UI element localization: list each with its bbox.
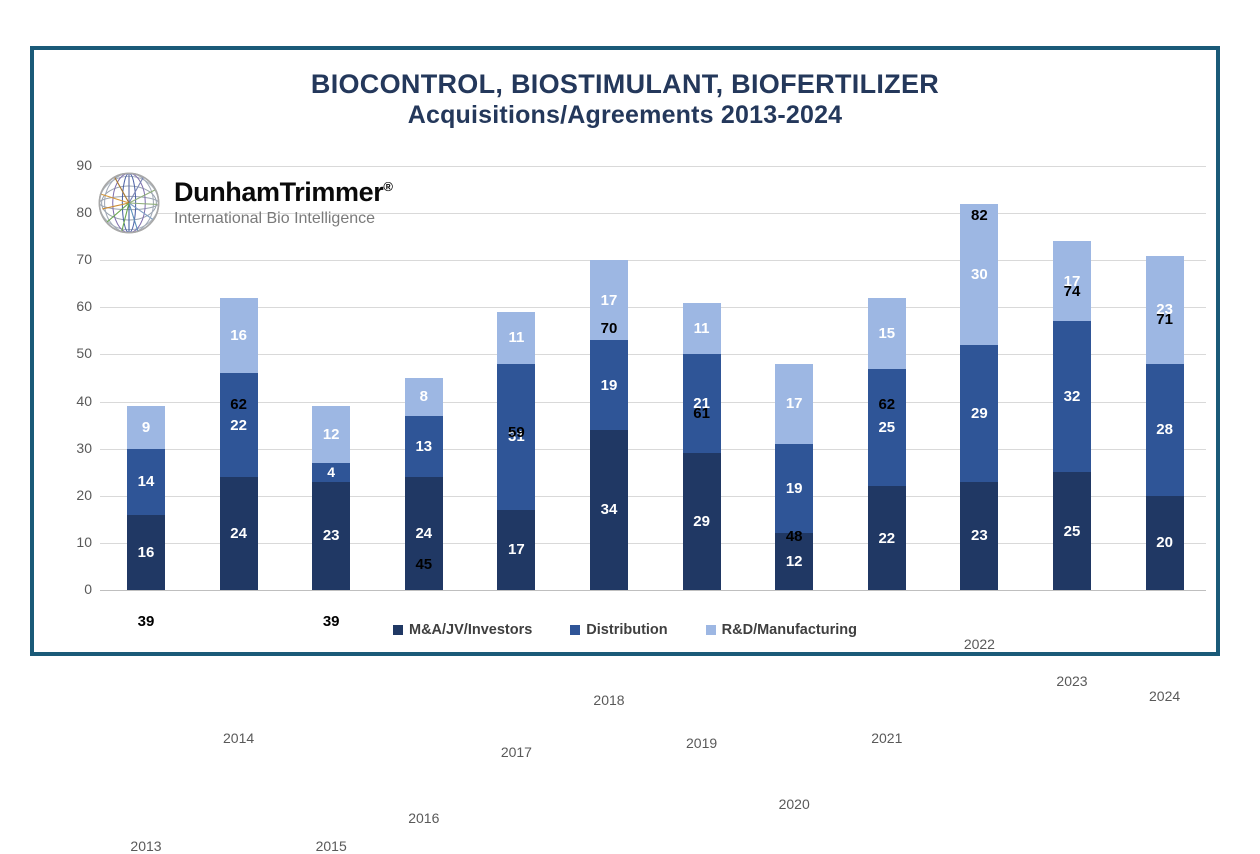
y-axis-tick-label: 90	[56, 157, 92, 173]
bar-segment[interactable]: 23	[312, 482, 350, 590]
x-axis-tick-label: 2016	[384, 810, 464, 826]
legend-item[interactable]: M&A/JV/Investors	[393, 622, 532, 638]
bar-total-label: 82	[944, 207, 1014, 224]
bar-segment[interactable]: 29	[960, 345, 998, 482]
y-axis-tick-label: 80	[56, 204, 92, 220]
logo-company-name-text: DunhamTrimmer	[174, 177, 383, 207]
gridline	[100, 260, 1206, 261]
bar-total-label: 48	[759, 528, 829, 545]
bar-total-label: 61	[667, 405, 737, 422]
x-axis-tick-label: 2023	[1032, 673, 1112, 689]
y-axis-tick-label: 70	[56, 251, 92, 267]
logo-tagline: International Bio Intelligence	[174, 211, 393, 227]
bar-segment-value: 22	[878, 531, 895, 546]
x-axis-tick-label: 2018	[569, 692, 649, 708]
bar-segment-value: 9	[142, 420, 150, 435]
x-axis-tick-label: 2021	[847, 730, 927, 746]
x-axis-tick-label: 2024	[1125, 688, 1205, 704]
bar-segment[interactable]: 12	[312, 406, 350, 463]
y-axis-tick-label: 10	[56, 534, 92, 550]
x-axis-tick-label: 2022	[939, 636, 1019, 652]
bar-segment[interactable]: 23	[1146, 256, 1184, 364]
bar-column[interactable]: 113117592017	[497, 312, 535, 590]
legend-swatch-icon	[393, 625, 403, 635]
bar-segment-value: 32	[1064, 389, 1081, 404]
bar-segment[interactable]: 24	[405, 477, 443, 590]
bar-segment-value: 23	[971, 528, 988, 543]
gridline	[100, 449, 1206, 450]
bar-segment[interactable]: 25	[868, 369, 906, 487]
x-axis-tick-label: 2020	[754, 796, 834, 812]
bar-segment-value: 23	[323, 528, 340, 543]
logo-company-name: DunhamTrimmer®	[174, 179, 393, 206]
bar-segment-value: 16	[230, 328, 247, 343]
bar-segment-value: 25	[878, 420, 895, 435]
bar-segment[interactable]: 19	[775, 444, 813, 534]
bar-segment[interactable]: 32	[1053, 321, 1091, 472]
legend-item[interactable]: R&D/Manufacturing	[706, 622, 857, 638]
bar-segment-value: 12	[786, 554, 803, 569]
bar-segment-value: 16	[138, 545, 155, 560]
globe-wireframe-icon	[92, 166, 166, 240]
y-axis-tick-label: 50	[56, 345, 92, 361]
bar-segment[interactable]: 25	[1053, 472, 1091, 590]
gridline	[100, 590, 1206, 591]
bar-column[interactable]: 173225742023	[1053, 241, 1091, 590]
chart-legend: M&A/JV/InvestorsDistributionR&D/Manufact…	[34, 622, 1216, 638]
bar-segment-value: 34	[601, 502, 618, 517]
y-axis-tick-label: 20	[56, 487, 92, 503]
y-axis-tick-label: 0	[56, 581, 92, 597]
bar-segment-value: 20	[1156, 535, 1173, 550]
bar-segment[interactable]: 19	[590, 340, 628, 430]
bar-segment[interactable]: 11	[497, 312, 535, 364]
registered-mark: ®	[383, 179, 392, 194]
x-axis-tick-label: 2015	[291, 838, 371, 854]
legend-item-label: Distribution	[586, 622, 667, 638]
bar-segment[interactable]: 15	[868, 298, 906, 369]
bar-segment[interactable]: 28	[1146, 364, 1184, 496]
y-axis-tick-label: 30	[56, 440, 92, 456]
bar-total-label: 45	[389, 556, 459, 573]
x-axis-tick-label: 2013	[106, 838, 186, 854]
bar-total-label: 74	[1037, 283, 1107, 300]
logo: DunhamTrimmer® International Bio Intelli…	[92, 166, 393, 240]
bar-column[interactable]: 91416392013	[127, 406, 165, 590]
bar-column[interactable]: 171934702018	[590, 260, 628, 590]
bar-segment-value: 13	[415, 439, 432, 454]
bar-column[interactable]: 171912482020	[775, 364, 813, 590]
bar-total-label: 70	[574, 320, 644, 337]
bar-segment-value: 19	[601, 378, 618, 393]
bar-segment[interactable]: 13	[405, 416, 443, 477]
page-title: BIOCONTROL, BIOSTIMULANT, BIOFERTILIZER	[34, 68, 1216, 100]
bar-segment-value: 17	[786, 396, 803, 411]
bar-segment[interactable]: 4	[312, 463, 350, 482]
legend-item-label: R&D/Manufacturing	[722, 622, 857, 638]
bar-segment[interactable]: 14	[127, 449, 165, 515]
bar-segment-value: 25	[1064, 524, 1081, 539]
chart-frame: BIOCONTROL, BIOSTIMULANT, BIOFERTILIZER …	[30, 46, 1220, 656]
bar-segment[interactable]: 17	[497, 510, 535, 590]
bar-segment[interactable]: 29	[683, 453, 721, 590]
bar-total-label: 59	[481, 424, 551, 441]
x-axis-tick-label: 2017	[476, 744, 556, 760]
gridline	[100, 354, 1206, 355]
bar-segment[interactable]: 9	[127, 406, 165, 448]
x-axis-tick-label: 2019	[662, 735, 742, 751]
bar-segment[interactable]: 23	[960, 482, 998, 590]
bar-segment-value: 24	[230, 526, 247, 541]
gridline	[100, 307, 1206, 308]
legend-item-label: M&A/JV/Investors	[409, 622, 532, 638]
bar-column[interactable]: 232820712024	[1146, 256, 1184, 590]
y-axis-tick-label: 60	[56, 298, 92, 314]
bar-segment-value: 28	[1156, 422, 1173, 437]
bar-segment[interactable]: 21	[683, 354, 721, 453]
chart-subtitle: Acquisitions/Agreements 2013-2024	[34, 100, 1216, 131]
y-axis-tick-label: 40	[56, 393, 92, 409]
bar-column[interactable]: 81324452016	[405, 378, 443, 590]
bar-total-label: 62	[204, 396, 274, 413]
bar-segment[interactable]: 22	[868, 486, 906, 590]
gridline	[100, 543, 1206, 544]
bar-segment-value: 17	[601, 293, 618, 308]
bar-segment[interactable]: 11	[683, 303, 721, 355]
bar-segment-value: 29	[693, 514, 710, 529]
gridline	[100, 496, 1206, 497]
bar-segment-value: 29	[971, 406, 988, 421]
bar-segment[interactable]: 34	[590, 430, 628, 590]
bar-total-label: 62	[852, 396, 922, 413]
bar-segment-value: 30	[971, 267, 988, 282]
bar-total-label: 71	[1130, 311, 1200, 328]
bar-segment-value: 12	[323, 427, 340, 442]
bar-column[interactable]: 12423392015	[312, 406, 350, 590]
chart-title-block: BIOCONTROL, BIOSTIMULANT, BIOFERTILIZER …	[34, 68, 1216, 131]
legend-item[interactable]: Distribution	[570, 622, 667, 638]
bar-segment-value: 14	[138, 474, 155, 489]
bar-segment-value: 17	[508, 542, 525, 557]
bar-segment[interactable]: 17	[775, 364, 813, 444]
bar-segment-value: 4	[327, 465, 335, 479]
bar-column[interactable]: 302923822022	[960, 204, 998, 590]
bar-segment[interactable]: 16	[127, 515, 165, 590]
bar-column[interactable]: 112129612019	[683, 303, 721, 590]
bar-segment[interactable]: 8	[405, 378, 443, 416]
bar-segment[interactable]: 22	[220, 373, 258, 477]
bar-segment-value: 22	[230, 418, 247, 433]
bar-segment[interactable]: 20	[1146, 496, 1184, 590]
bar-segment[interactable]: 30	[960, 204, 998, 345]
bar-segment-value: 15	[878, 326, 895, 341]
bar-segment-value: 8	[420, 389, 428, 404]
logo-text: DunhamTrimmer® International Bio Intelli…	[174, 179, 393, 227]
bar-column[interactable]: 162224622014	[220, 298, 258, 590]
bar-segment-value: 11	[508, 330, 524, 345]
bar-segment[interactable]: 16	[220, 298, 258, 373]
bar-segment-value: 19	[786, 481, 803, 496]
bar-column[interactable]: 152522622021	[868, 298, 906, 590]
legend-swatch-icon	[570, 625, 580, 635]
bar-segment-value: 11	[694, 321, 710, 336]
bar-segment[interactable]: 17	[1053, 241, 1091, 321]
legend-swatch-icon	[706, 625, 716, 635]
bar-segment[interactable]: 24	[220, 477, 258, 590]
x-axis-tick-label: 2014	[199, 730, 279, 746]
bar-segment-value: 24	[415, 526, 432, 541]
